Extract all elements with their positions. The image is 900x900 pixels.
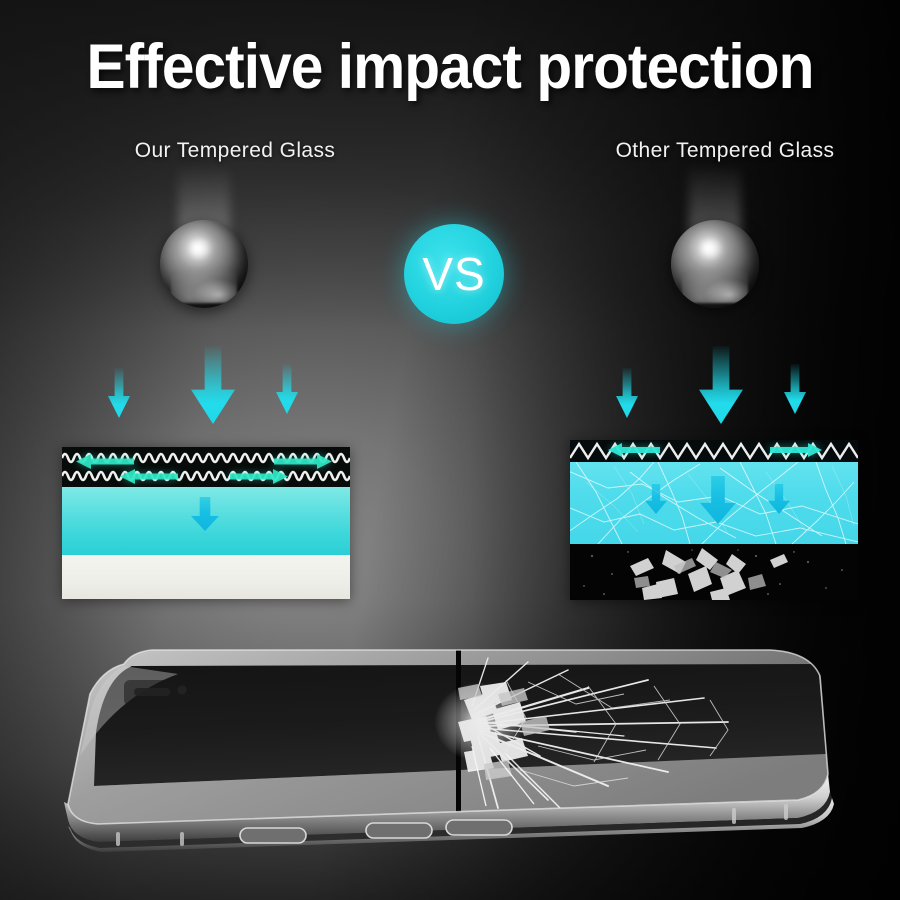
steel-ball-right bbox=[645, 168, 785, 328]
dispersion-arrow-right-icon bbox=[770, 443, 822, 457]
layer-tempered-glass-cracked bbox=[570, 462, 858, 544]
steel-ball-icon bbox=[160, 220, 248, 308]
layer-tempered-glass-intact bbox=[62, 487, 350, 555]
down-arrow-icon bbox=[191, 497, 219, 531]
glass-cross-section-ours bbox=[62, 447, 350, 599]
down-arrow-icon bbox=[191, 346, 235, 424]
layer-screen-intact bbox=[62, 555, 350, 599]
steel-ball-left bbox=[134, 168, 274, 328]
smartphone-illustration bbox=[28, 636, 872, 876]
glass-shards-icon bbox=[570, 544, 858, 600]
dispersion-arrow-right-icon bbox=[274, 454, 332, 469]
impact-arrows-left bbox=[86, 344, 346, 424]
steel-ball-icon bbox=[671, 220, 759, 308]
dispersion-arrow-right-icon bbox=[230, 469, 288, 484]
down-arrow-icon bbox=[784, 364, 806, 414]
layer-screen-shattered bbox=[570, 544, 858, 600]
dispersion-arrow-left-icon bbox=[608, 443, 660, 457]
down-arrow-icon bbox=[616, 368, 638, 418]
vs-badge: VS bbox=[404, 224, 504, 324]
down-arrow-icon bbox=[699, 346, 743, 424]
glass-cross-section-others bbox=[570, 440, 858, 600]
down-arrow-icon bbox=[276, 364, 298, 414]
impact-arrows-right bbox=[594, 344, 856, 424]
dispersion-arrow-left-icon bbox=[120, 469, 178, 484]
smartphone-photo bbox=[28, 636, 872, 876]
caption-other-tempered-glass: Other Tempered Glass bbox=[575, 139, 875, 163]
dispersion-arrow-left-icon bbox=[76, 454, 134, 469]
layer-shock-absorbing-wave bbox=[62, 447, 350, 487]
ball-highlight bbox=[697, 238, 723, 259]
down-arrow-icon bbox=[108, 368, 130, 418]
infographic-canvas: Effective impact protection Our Tempered… bbox=[0, 0, 900, 900]
vs-label: VS bbox=[422, 251, 485, 297]
layer-thin-wave bbox=[570, 440, 858, 462]
caption-our-tempered-glass: Our Tempered Glass bbox=[90, 139, 380, 163]
ball-highlight bbox=[186, 238, 212, 259]
page-title: Effective impact protection bbox=[32, 34, 869, 100]
